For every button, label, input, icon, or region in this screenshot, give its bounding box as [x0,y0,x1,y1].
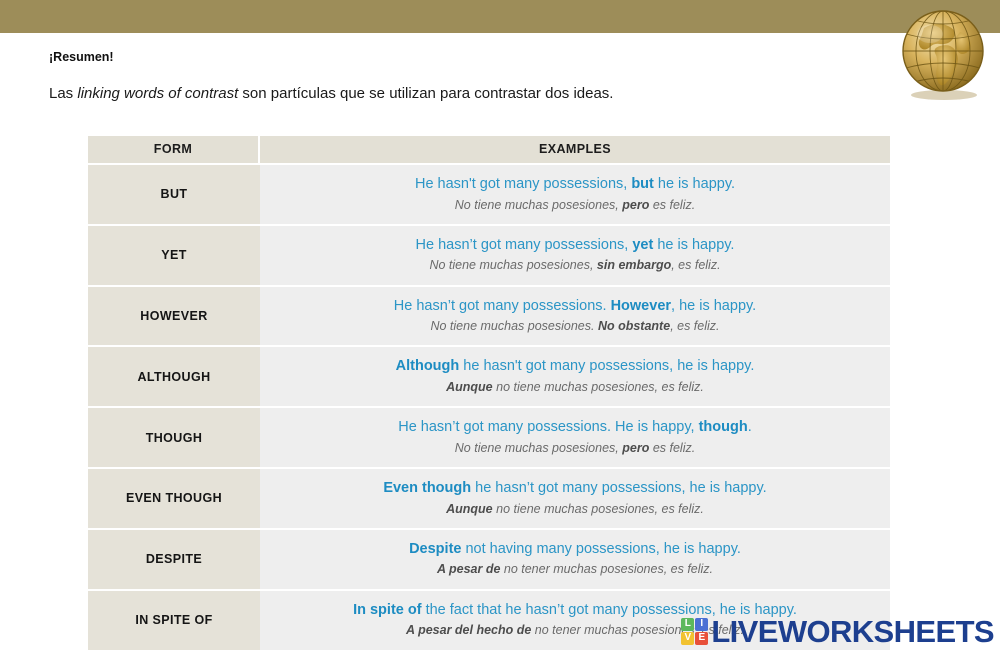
english-pre: He hasn’t got many possessions, [416,237,633,253]
example-cell: Despite not having many possessions, he … [260,530,890,589]
spanish-keyword: Aunque [446,502,493,516]
globe-icon [894,2,992,100]
english-keyword: Even though [383,480,471,496]
table-row: EVEN THOUGHEven though he hasn’t got man… [88,469,890,528]
spanish-post: no tiene muchas posesiones, es feliz. [493,502,704,516]
english-keyword: In spite of [353,602,421,618]
example-spanish: No tiene muchas posesiones. No obstante,… [274,318,876,334]
example-spanish: No tiene muchas posesiones, pero es feli… [274,197,876,213]
form-cell: HOWEVER [88,287,260,346]
form-cell: BUT [88,165,260,224]
tile-v: V [681,632,694,645]
table-body: BUTHe hasn't got many possessions, but h… [88,165,890,650]
form-cell: YET [88,226,260,285]
example-english: Despite not having many possessions, he … [274,540,876,560]
live-tiles-icon: L I V E [681,618,708,645]
intro-paragraph: Las linking words of contrast son partíc… [49,85,869,104]
example-cell: Although he hasn't got many possessions,… [260,347,890,406]
english-post: not having many possessions, he is happy… [461,541,740,557]
table-row: BUTHe hasn't got many possessions, but h… [88,165,890,224]
logo-wordmark: LIVEWORKSHEETS [711,616,994,647]
table-row: DESPITEDespite not having many possessio… [88,530,890,589]
form-cell: DESPITE [88,530,260,589]
example-cell: He hasn't got many possessions, but he i… [260,165,890,224]
example-english: He hasn’t got many possessions. He is ha… [274,418,876,438]
summary-heading: ¡Resumen! [49,50,869,65]
intro-text-italic: linking words of contrast [77,85,238,102]
spanish-keyword: pero [622,198,649,212]
table-row: HOWEVERHe hasn’t got many possessions. H… [88,287,890,346]
example-spanish: Aunque no tiene muchas posesiones, es fe… [274,501,876,517]
spanish-post: no tiene muchas posesiones, es feliz. [493,380,704,394]
example-cell: He hasn’t got many possessions, yet he i… [260,226,890,285]
tile-i: I [695,618,708,631]
spanish-pre: No tiene muchas posesiones, [455,441,622,455]
form-cell: EVEN THOUGH [88,469,260,528]
spanish-keyword: A pesar del hecho de [406,623,531,637]
form-cell: ALTHOUGH [88,347,260,406]
example-spanish: No tiene muchas posesiones, pero es feli… [274,440,876,456]
top-banner [0,0,1000,33]
english-keyword: Despite [409,541,461,557]
form-cell: IN SPITE OF [88,591,260,650]
spanish-post: , es feliz. [671,258,720,272]
spanish-keyword: pero [622,441,649,455]
spanish-pre: No tiene muchas posesiones, [429,258,596,272]
english-post: he hasn’t got many possessions, he is ha… [471,480,767,496]
linking-words-table: FORM EXAMPLES BUTHe hasn't got many poss… [88,134,890,652]
english-post: he is happy. [654,176,735,192]
english-keyword: However [611,298,671,314]
column-header-examples: EXAMPLES [260,136,890,163]
spanish-keyword: A pesar de [437,562,500,576]
example-english: Even though he hasn’t got many possessio… [274,479,876,499]
example-spanish: A pesar de no tener muchas posesiones, e… [274,561,876,577]
spanish-pre: No tiene muchas posesiones, [455,198,622,212]
example-cell: Even though he hasn’t got many possessio… [260,469,890,528]
intro-text-after: son partículas que se utilizan para cont… [238,85,613,102]
example-cell: He hasn’t got many possessions. He is ha… [260,408,890,467]
spanish-post: , es feliz. [670,319,719,333]
tile-l: L [681,618,694,631]
spanish-keyword: sin embargo [597,258,671,272]
linking-words-table-wrapper: FORM EXAMPLES BUTHe hasn't got many poss… [88,134,890,652]
tile-e: E [695,632,708,645]
english-post: he hasn't got many possessions, he is ha… [459,358,754,374]
example-cell: He hasn’t got many possessions. However,… [260,287,890,346]
form-cell: THOUGH [88,408,260,467]
spanish-keyword: No obstante [598,319,670,333]
intro-text-before: Las [49,85,77,102]
example-english: Although he hasn't got many possessions,… [274,357,876,377]
english-post: . [748,419,752,435]
example-english: He hasn’t got many possessions, yet he i… [274,236,876,256]
english-keyword: though [699,419,748,435]
english-post: , he is happy. [671,298,756,314]
example-spanish: Aunque no tiene muchas posesiones, es fe… [274,379,876,395]
table-row: THOUGHHe hasn’t got many possessions. He… [88,408,890,467]
example-english: He hasn’t got many possessions. However,… [274,297,876,317]
table-row: ALTHOUGHAlthough he hasn't got many poss… [88,347,890,406]
english-pre: He hasn’t got many possessions. He is ha… [398,419,698,435]
spanish-keyword: Aunque [446,380,493,394]
spanish-post: es feliz. [649,198,695,212]
liveworksheets-logo: L I V E LIVEWORKSHEETS [681,614,994,648]
english-pre: He hasn't got many possessions, [415,176,631,192]
table-row: YETHe hasn’t got many possessions, yet h… [88,226,890,285]
example-english: He hasn't got many possessions, but he i… [274,175,876,195]
column-header-form: FORM [88,136,260,163]
english-pre: He hasn’t got many possessions. [394,298,611,314]
english-post: he is happy. [653,237,734,253]
english-keyword: but [631,176,654,192]
spanish-pre: No tiene muchas posesiones. [430,319,597,333]
spanish-post: no tener muchas posesiones, es feliz. [500,562,713,576]
table-header-row: FORM EXAMPLES [88,136,890,163]
example-spanish: No tiene muchas posesiones, sin embargo,… [274,257,876,273]
english-keyword: Although [396,358,460,374]
english-keyword: yet [632,237,653,253]
intro-block: ¡Resumen! Las linking words of contrast … [49,50,869,104]
spanish-post: es feliz. [649,441,695,455]
